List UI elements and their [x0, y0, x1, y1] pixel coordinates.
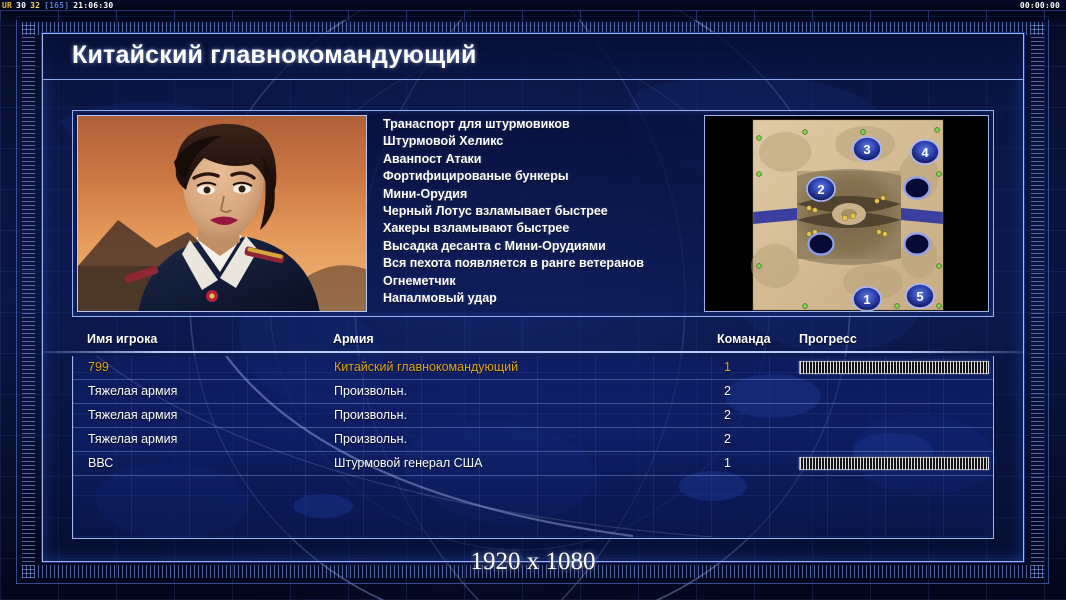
map-spawn-empty [809, 234, 834, 255]
cell-team: 1 [724, 456, 731, 470]
resolution-label: 1920 x 1080 [0, 548, 1066, 576]
status-number-2: 32 [28, 0, 42, 11]
column-header-army: Армия [333, 332, 374, 346]
column-header-progress: Прогресс [799, 332, 857, 346]
cell-army: Произвольн. [334, 432, 407, 446]
page-title: Китайский главнокомандующий [72, 41, 477, 70]
progress-bar [799, 361, 989, 374]
table-row[interactable]: 799 Китайский главнокомандующий 1 [73, 356, 993, 380]
cell-player-name: Тяжелая армия [88, 432, 177, 446]
ability-item: Хакеры взламывают быстрее [383, 220, 703, 237]
cell-team: 1 [724, 360, 731, 374]
table-row[interactable]: Тяжелая армия Произвольн. 2 [73, 380, 993, 404]
frame-line-bottom [16, 583, 1049, 584]
cell-army: Китайский главнокомандующий [334, 360, 518, 374]
cell-team: 2 [724, 384, 731, 398]
cell-player-name: Тяжелая армия [88, 408, 177, 422]
ability-item: Транаспорт для штурмовиков [383, 116, 703, 133]
map-spawn-label: 5 [916, 289, 923, 304]
status-bar: UR 30 32 [165] 21:06:30 00:00:00 [0, 0, 1066, 11]
frame-line-left [16, 16, 17, 584]
column-header-team: Команда [717, 332, 771, 346]
status-clock: 00:00:00 [1020, 0, 1066, 11]
abilities-list: Транаспорт для штурмовиков Штурмовой Хел… [383, 116, 703, 307]
map-spawn-label: 4 [921, 145, 929, 160]
table-row[interactable]: Тяжелая армия Произвольн. 2 [73, 404, 993, 428]
cell-player-name: 799 [88, 360, 109, 374]
ability-item: Напалмовый удар [383, 290, 703, 307]
ability-item: Черный Лотус взламывает быстрее [383, 203, 703, 220]
main-panel: Китайский главнокомандующий [42, 33, 1024, 562]
player-table-header: Имя игрока Армия Команда Прогресс [43, 332, 1023, 351]
frame-ruler-left [22, 22, 35, 578]
ability-item: Аванпост Атаки [383, 151, 703, 168]
cell-army: Произвольн. [334, 408, 407, 422]
panel-title-bar: Китайский главнокомандующий [43, 34, 1023, 80]
commander-portrait [77, 115, 367, 312]
ability-item: Высадка десанта с Мини-Орудиями [383, 238, 703, 255]
map-spawn-empty [905, 234, 930, 255]
column-header-player-name: Имя игрока [87, 332, 157, 346]
ability-item: Вся пехота появляется в ранге ветеранов [383, 255, 703, 272]
map-spawn-empty [905, 178, 930, 199]
commander-info-panel: Транаспорт для штурмовиков Штурмовой Хел… [72, 110, 994, 317]
frame-line-right [1048, 16, 1049, 584]
ability-item: Фортифицированые бункеры [383, 168, 703, 185]
map-spawn-label: 3 [863, 142, 870, 157]
topbar-ticks [0, 11, 1066, 20]
status-bracket: [165] [42, 0, 71, 11]
table-header-divider [43, 351, 1023, 353]
status-number-1: 30 [14, 0, 28, 11]
frame-ruler-right [1031, 22, 1044, 578]
cell-army: Произвольн. [334, 384, 407, 398]
table-row[interactable]: ВВС Штурмовой генерал США 1 [73, 452, 993, 476]
ability-item: Мини-Орудия [383, 186, 703, 203]
status-label: UR [0, 0, 14, 11]
player-table-body: 799 Китайский главнокомандующий 1 Тяжела… [72, 356, 994, 539]
progress-bar [799, 457, 989, 470]
status-timestamp: 21:06:30 [71, 0, 115, 11]
cell-team: 2 [724, 432, 731, 446]
table-row[interactable]: Тяжелая армия Произвольн. 2 [73, 428, 993, 452]
ability-item: Штурмовой Хеликс [383, 133, 703, 150]
map-spawn-label: 2 [817, 182, 824, 197]
map-spawn-label: 1 [863, 292, 870, 307]
cell-player-name: Тяжелая армия [88, 384, 177, 398]
ability-item: Огнеметчик [383, 273, 703, 290]
cell-player-name: ВВС [88, 456, 113, 470]
cell-army: Штурмовой генерал США [334, 456, 482, 470]
cell-team: 2 [724, 408, 731, 422]
map-preview[interactable]: 3 4 2 1 5 [704, 115, 989, 312]
